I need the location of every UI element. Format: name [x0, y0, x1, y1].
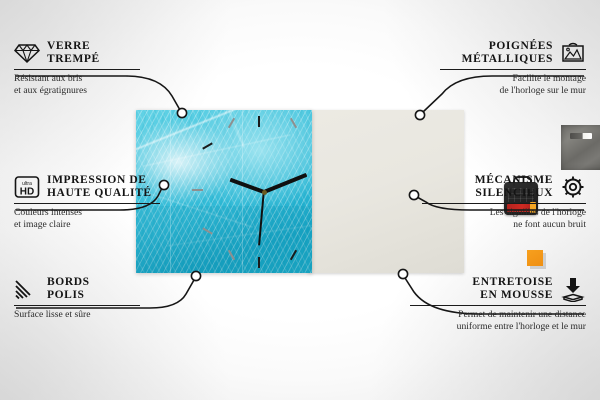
feature-title: ENTRETOISE EN MOUSSE	[472, 276, 553, 302]
foam-spacer	[527, 250, 543, 266]
polished-edges-icon	[14, 278, 40, 300]
feature-desc-line2: ne font aucun bruit	[408, 219, 586, 231]
feature-impression-haute-qualite: ultra HD IMPRESSION DE HAUTE QUALITÉ Cou…	[14, 174, 174, 230]
feature-header: MÉCANISME SILENCIEUX	[408, 174, 586, 200]
feature-desc-line2: et aux égratignures	[14, 85, 154, 97]
foam-spacer-icon	[560, 276, 586, 302]
feature-title: MÉCANISME SILENCIEUX	[475, 174, 553, 200]
feature-header: ENTRETOISE EN MOUSSE	[396, 276, 586, 302]
infographic-root: VERRE TREMPÉ Résistant aux bris et aux é…	[0, 0, 600, 400]
feature-desc-line2: de l'horloge sur le mur	[426, 85, 586, 97]
feature-title: POIGNÉES MÉTALLIQUES	[462, 40, 553, 66]
feature-rule	[422, 203, 586, 204]
clock-second-hand	[259, 192, 265, 246]
feature-desc-line2: et image claire	[14, 219, 174, 231]
feature-rule	[14, 69, 140, 70]
feature-desc-line1: Facilite le montage	[426, 73, 586, 85]
clock-hour-hand	[229, 178, 264, 194]
feature-rule	[14, 305, 140, 306]
gear-icon	[560, 174, 586, 200]
feature-bords-polis: BORDS POLIS Surface lisse et sûre	[14, 276, 154, 321]
feature-header: POIGNÉES MÉTALLIQUES	[426, 40, 586, 66]
feature-desc-line1: Les aiguilles de l'horloge	[408, 207, 586, 219]
clock-tick	[290, 118, 297, 129]
feature-entretoise-en-mousse: ENTRETOISE EN MOUSSE Permet de maintenir…	[396, 276, 586, 332]
feature-verre-trempe: VERRE TREMPÉ Résistant aux bris et aux é…	[14, 40, 154, 96]
feature-mecanisme-silencieux: MÉCANISME SILENCIEUX Les aiguilles de l'…	[408, 174, 586, 230]
clock-tick	[202, 227, 213, 234]
metal-hanger-plate	[561, 125, 600, 170]
clock-face	[184, 112, 312, 272]
ultra-hd-icon: ultra HD	[14, 175, 40, 199]
feature-header: VERRE TREMPÉ	[14, 40, 154, 66]
clock-tick	[228, 118, 235, 129]
feature-rule	[440, 69, 586, 70]
clock-tick	[258, 257, 260, 268]
clock-tick	[258, 116, 260, 127]
clock-tick	[290, 250, 297, 261]
diamond-icon	[14, 42, 40, 64]
feature-rule	[14, 203, 160, 204]
clock-center-pin	[262, 190, 267, 195]
feature-rule	[410, 305, 586, 306]
feature-title: BORDS POLIS	[47, 276, 90, 302]
clock-tick	[202, 142, 213, 149]
svg-text:HD: HD	[20, 187, 34, 198]
feature-desc-line1: Résistant aux bris	[14, 73, 154, 85]
feature-title: IMPRESSION DE HAUTE QUALITÉ	[47, 174, 152, 200]
feature-desc-line1: Couleurs intenses	[14, 207, 174, 219]
clock-tick	[228, 250, 235, 261]
feature-desc-line2: uniforme entre l'horloge et le mur	[396, 321, 586, 333]
feature-desc-line1: Surface lisse et sûre	[14, 309, 154, 321]
hanger-slot	[570, 133, 592, 139]
feature-poignees-metalliques: POIGNÉES MÉTALLIQUES Facilite le montage…	[426, 40, 586, 96]
clock-tick	[192, 189, 203, 191]
feature-header: ultra HD IMPRESSION DE HAUTE QUALITÉ	[14, 174, 174, 200]
feature-title: VERRE TREMPÉ	[47, 40, 100, 66]
feature-header: BORDS POLIS	[14, 276, 154, 302]
clock-minute-hand	[263, 173, 307, 194]
picture-frame-icon	[560, 42, 586, 65]
feature-desc-line1: Permet de maintenir une distance	[396, 309, 586, 321]
